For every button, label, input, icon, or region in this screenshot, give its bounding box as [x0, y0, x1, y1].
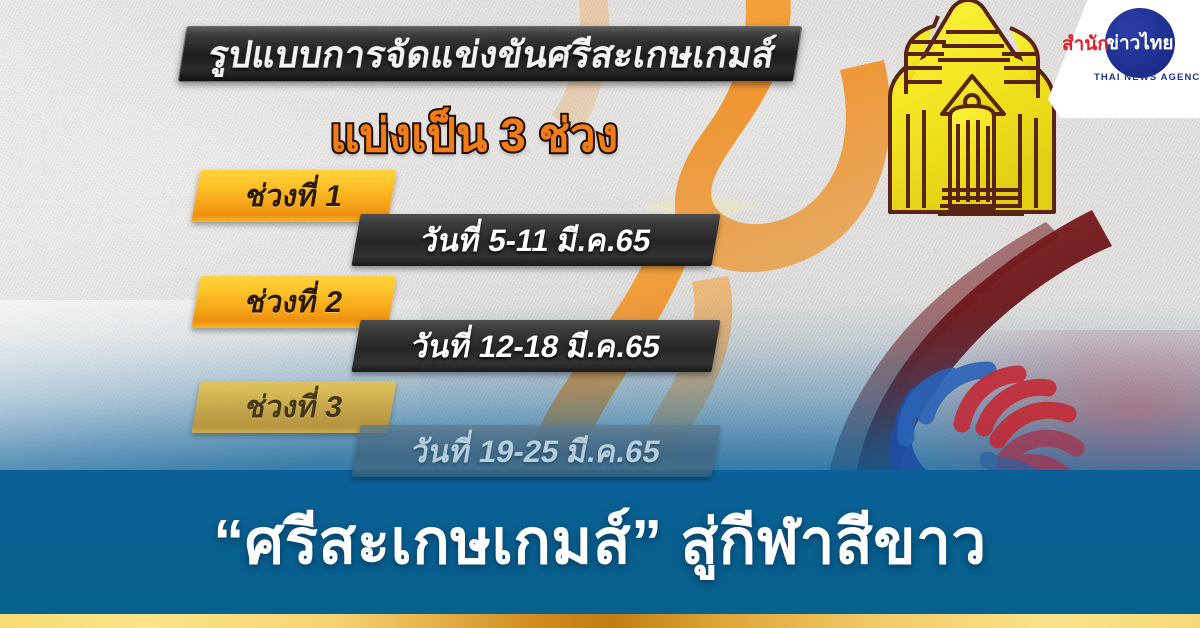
headline-text: “ศรีสะเกษเกมส์” สู่กีฬาสีขาว: [0, 498, 1200, 586]
bottom-gold-strip: [0, 614, 1200, 628]
logo-english-text: THAI NEWS AGENCY: [1094, 72, 1198, 83]
phase-row: ช่วงที่ 3 วันที่ 19-25 มี.ค.65: [0, 381, 1200, 459]
news-graphic: รูปแบบการจัดแข่งขันศรีสะเกษเกมส์ แบ่งเป็…: [0, 0, 1200, 628]
phase-row: ช่วงที่ 1 วันที่ 5-11 มี.ค.65: [0, 170, 1200, 248]
logo-thai-white-text: ข่าวไทย: [1106, 28, 1174, 58]
logo-blue-circle: ข่าวไทย: [1105, 8, 1175, 78]
title-bar-label: รูปแบบการจัดแข่งขันศรีสะเกษเกมส์: [186, 26, 799, 82]
phase-row: ช่วงที่ 2 วันที่ 12-18 มี.ค.65: [0, 276, 1200, 354]
logo-thai-red-text: สำนัก: [1062, 29, 1109, 59]
subtitle-label: แบ่งเป็น 3 ช่วง: [284, 104, 664, 166]
phase-date-label: วันที่ 19-25 มี.ค.65: [351, 425, 720, 477]
phase-date-label: วันที่ 12-18 มี.ค.65: [351, 320, 720, 372]
thai-news-agency-logo: สำนัก ข่าวไทย THAI NEWS AGENCY: [1048, 0, 1200, 118]
logo-wordmark: สำนัก ข่าวไทย: [1062, 26, 1194, 62]
phase-date-label: วันที่ 5-11 มี.ค.65: [351, 214, 720, 266]
